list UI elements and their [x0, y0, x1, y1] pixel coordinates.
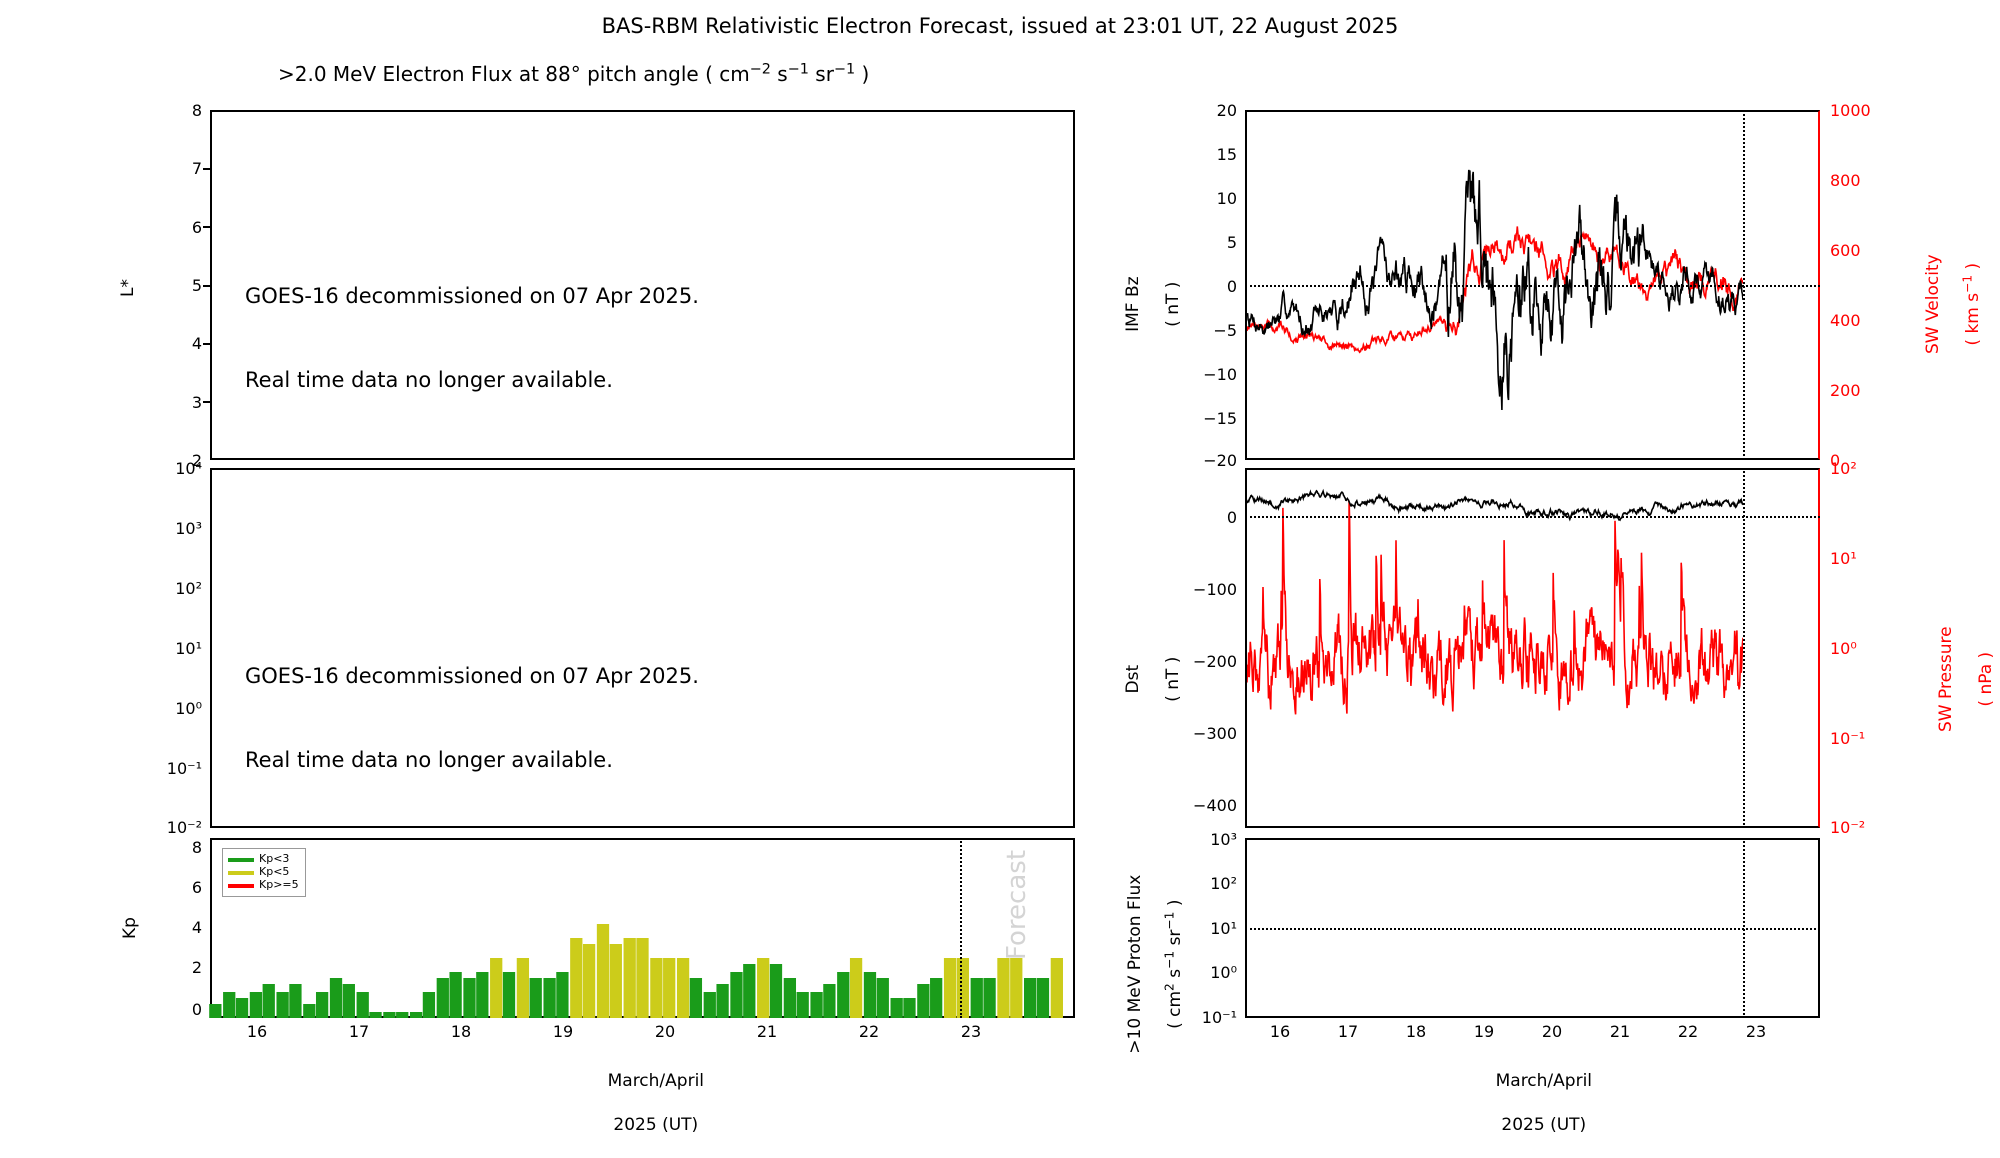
dst-ytick-0: 0 — [1185, 508, 1237, 527]
dst-yaxis-label-line1: Dst — [1123, 665, 1143, 694]
sw-pressure-trace — [1247, 501, 1743, 715]
proton-threshold-line — [1245, 928, 1820, 930]
swp-yaxis-label: SW Pressure ( nPa ) — [1916, 620, 2000, 760]
proton-xtick-17: 17 — [1336, 1022, 1360, 1041]
proton-yaxis-end: ) — [1165, 899, 1185, 911]
kp-xaxis-label-line2: 2025 (UT) — [613, 1115, 698, 1135]
dst-zero-line — [1245, 516, 1820, 518]
proton-yaxis-label-line2: ( cm — [1165, 991, 1185, 1029]
proton-yaxis-exp1: 2 — [1162, 983, 1176, 991]
swp-ytick-1em2: 10⁻² — [1830, 818, 1888, 837]
proton-xtick-16: 16 — [1268, 1022, 1292, 1041]
proton-xaxis-label: March/April 2025 (UT) — [1388, 1048, 1678, 1158]
proton-yaxis-mid2: sr — [1165, 930, 1185, 951]
proton-xtick-21: 21 — [1608, 1022, 1632, 1041]
proton-xtick-20: 20 — [1540, 1022, 1564, 1041]
proton-xtick-19: 19 — [1472, 1022, 1496, 1041]
dst-yaxis-label: Dst ( nT ) — [1103, 635, 1203, 745]
dst-forecast-divider — [1743, 468, 1745, 828]
proton-xtick-23: 23 — [1744, 1022, 1768, 1041]
proton-yaxis-label: >10 MeV Proton Flux ( cm2 s−1 sr−1 ) — [1105, 860, 1205, 1090]
proton-forecast-divider — [1743, 838, 1745, 1018]
proton-yaxis-mid: s — [1165, 969, 1185, 983]
dst-ytick-m400: −400 — [1168, 796, 1237, 815]
proton-ytick-1e3: 10³ — [1175, 830, 1237, 849]
dst-yaxis-label-line2: ( nT ) — [1163, 657, 1183, 702]
proton-yaxis-exp2: −1 — [1162, 951, 1176, 969]
swp-ytick-1em1: 10⁻¹ — [1830, 729, 1888, 748]
proton-yaxis-label-line1: >10 MeV Proton Flux — [1125, 875, 1145, 1054]
proton-xaxis-label-line1: March/April — [1496, 1071, 1592, 1091]
swp-ytick-1e1: 10¹ — [1830, 549, 1888, 568]
swp-yaxis-label-line1: SW Pressure — [1936, 626, 1956, 732]
forecast-figure: BAS-RBM Relativistic Electron Forecast, … — [0, 0, 2000, 1100]
swp-yaxis-label-line2: ( nPa ) — [1976, 652, 1996, 707]
swp-ytick-1e0: 10⁰ — [1830, 639, 1888, 658]
proton-xtick-18: 18 — [1404, 1022, 1428, 1041]
swp-ytick-1e2: 10² — [1830, 459, 1888, 478]
proton-xaxis-label-line2: 2025 (UT) — [1501, 1115, 1586, 1135]
proton-yaxis-exp3: −1 — [1162, 912, 1176, 930]
dst-ytick-m100: −100 — [1168, 580, 1237, 599]
proton-xtick-22: 22 — [1676, 1022, 1700, 1041]
